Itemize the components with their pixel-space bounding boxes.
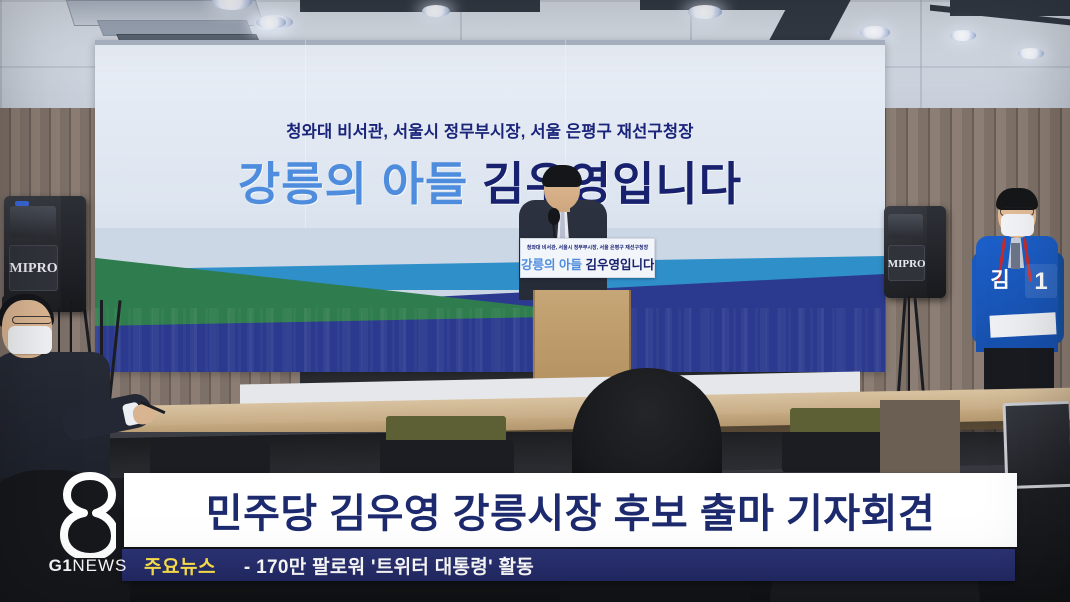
ticker-text: - 170만 팔로워 '트위터 대통령' 활동 <box>244 552 534 579</box>
reporter-face-mask <box>8 326 52 354</box>
press-conference-banner: 청와대 비서관, 서울시 정무부시장, 서울 은평구 재선구청장 강릉의 아들 … <box>95 40 885 372</box>
mipro-brand-label: MIPRO <box>888 258 925 270</box>
podium-sign: 청와대 비서관, 서울시 정무부시장, 서울 은평구 재선구청장 강릉의 아들 … <box>520 238 655 278</box>
banner-landscape-graphic <box>95 228 885 372</box>
channel-logo: G1NEWS <box>42 472 134 584</box>
ceiling-light <box>688 5 722 19</box>
staffer-face-mask <box>1001 214 1034 236</box>
microphone-head <box>548 208 560 225</box>
banner-headline: 강릉의 아들 김우영입니다 <box>95 148 885 214</box>
mipro-brand-label: MIPRO <box>9 261 58 277</box>
staffer-jacket-number: 1 <box>1028 268 1054 298</box>
podium-sign-headline: 강릉의 아들 김우영입니다 <box>521 254 654 273</box>
eight-loop-icon <box>60 472 116 558</box>
reporter-glasses <box>12 316 52 324</box>
ceiling-light <box>950 30 976 41</box>
channel-news: NEWS <box>72 556 127 575</box>
speaker-cable <box>908 296 910 400</box>
speaker-horn <box>10 206 56 236</box>
banner-headline-bold: 김우영입니다 <box>468 158 742 210</box>
ceiling-light <box>422 5 450 17</box>
ceiling-beam <box>300 0 540 12</box>
speaker-horn <box>888 214 923 238</box>
podium-sign-subtitle: 청와대 비서관, 서울시 정무부시장, 서울 은평구 재선구청장 <box>521 244 654 251</box>
staffer-tie <box>1011 243 1020 269</box>
channel-g1: G1 <box>49 556 73 575</box>
channel-name: G1NEWS <box>42 556 134 576</box>
background-person <box>880 400 960 480</box>
ticker-category-tag: 주요뉴스 <box>144 552 216 579</box>
podium-sign-accent: 강릉의 아들 <box>521 258 582 272</box>
staffer-jacket-name: 김 <box>983 268 1017 320</box>
lower-third-headline: 민주당 김우영 강릉시장 후보 출마 기자회견 <box>124 473 1017 547</box>
broadcast-screenshot: 청와대 비서관, 서울시 정무부시장, 서울 은평구 재선구청장 강릉의 아들 … <box>0 0 1070 602</box>
podium-sign-bold: 김우영입니다 <box>582 258 654 272</box>
speaker-side-panel <box>61 196 86 312</box>
banner-subtitle: 청와대 비서관, 서울시 정무부시장, 서울 은평구 재선구청장 <box>95 118 885 142</box>
ceiling-light <box>256 16 286 29</box>
banner-headline-accent: 강릉의 아들 <box>238 158 468 210</box>
ceiling-light <box>860 26 890 39</box>
speaker-side-panel <box>927 206 946 298</box>
graphic-city-texture <box>95 308 885 372</box>
speaker-glasses <box>547 181 577 188</box>
lower-third-headline-box: 민주당 김우영 강릉시장 후보 출마 기자회견 <box>124 473 1017 547</box>
mipro-speaker-right: MIPRO <box>884 206 946 298</box>
banner-top-rail <box>95 40 885 45</box>
ceiling-light <box>1018 48 1044 59</box>
staffer-paper <box>989 312 1056 337</box>
lower-third-ticker-bar: 주요뉴스 - 170만 팔로워 '트위터 대통령' 활동 <box>122 549 1015 581</box>
